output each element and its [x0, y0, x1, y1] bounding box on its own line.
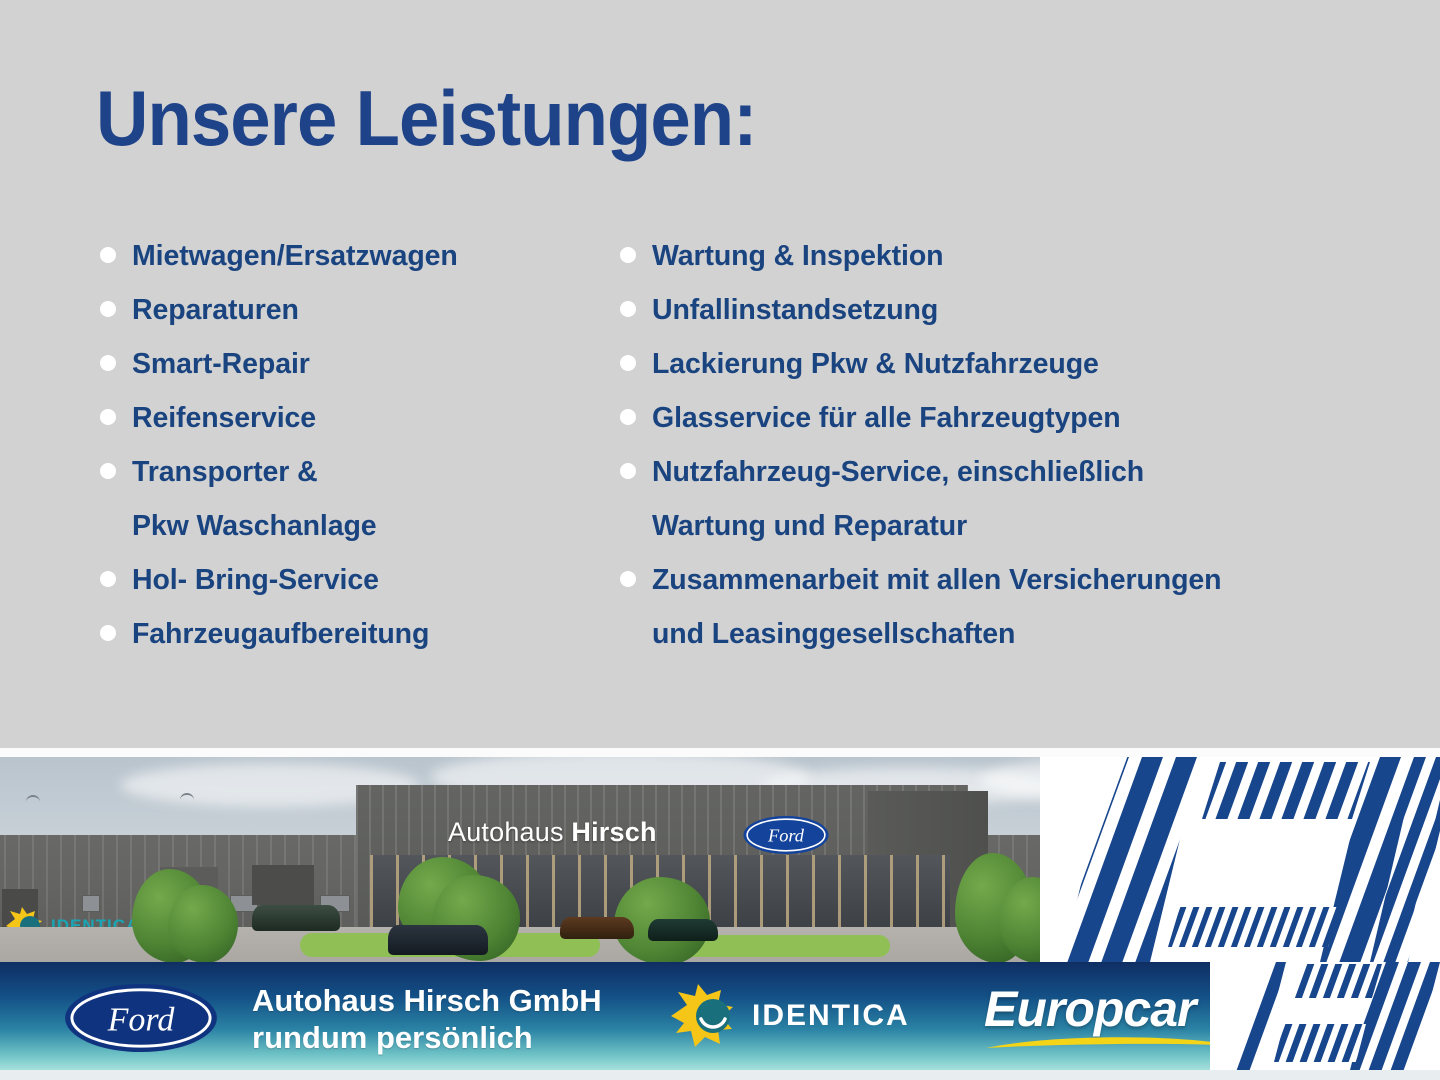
parked-car: [252, 905, 340, 931]
company-name-line1: Autohaus Hirsch GmbH: [252, 982, 602, 1019]
identica-wordmark-footer: IDENTICA: [752, 999, 910, 1033]
building-sign: Autohaus Hirsch: [448, 817, 657, 848]
roller-door: [252, 865, 314, 905]
bullet-icon: [100, 355, 116, 371]
bullet-icon: [100, 247, 116, 263]
parked-car: [388, 925, 488, 955]
bullet-icon: [100, 625, 116, 641]
list-item: Fahrzeugaufbereitung: [100, 612, 620, 666]
bottom-edge-strip: [0, 1070, 1440, 1080]
list-item-continuation: und Leasinggesellschaften: [620, 612, 1410, 666]
list-item: Wartung & Inspektion: [620, 234, 1410, 288]
list-item-label: Mietwagen/Ersatzwagen: [132, 234, 458, 278]
list-item: Glasservice für alle Fahrzeugtypen: [620, 396, 1410, 450]
svg-text:Ford: Ford: [767, 826, 805, 846]
list-item: Unfallinstandsetzung: [620, 288, 1410, 342]
bullet-icon: [620, 463, 636, 479]
list-item-label: Zusammenarbeit mit allen Versicherungen: [652, 558, 1221, 602]
bird-icon: [26, 795, 40, 802]
footer-stripe-decoration: [1210, 962, 1440, 1070]
bullet-icon: [620, 571, 636, 587]
building-sign-name: Hirsch: [571, 817, 656, 847]
svg-text:Ford: Ford: [107, 1002, 176, 1039]
bullet-spacer: [620, 517, 636, 533]
bullet-icon: [100, 463, 116, 479]
list-item-label: Lackierung Pkw & Nutzfahrzeuge: [652, 342, 1099, 386]
bullet-icon: [100, 571, 116, 587]
list-item: Mietwagen/Ersatzwagen: [100, 234, 620, 288]
bird-icon: [180, 793, 194, 800]
divider-above-photo: [0, 748, 1440, 757]
services-column-left: Mietwagen/Ersatzwagen Reparaturen Smart-…: [100, 234, 620, 666]
list-item-label: Unfallinstandsetzung: [652, 288, 938, 332]
list-item-label: Pkw Waschanlage: [132, 504, 377, 548]
parked-car: [560, 917, 634, 939]
building-sign-prefix: Autohaus: [448, 817, 564, 847]
parked-car: [648, 919, 718, 941]
list-item-label: Nutzfahrzeug-Service, einschließlich: [652, 450, 1144, 494]
list-item: Transporter &: [100, 450, 620, 504]
list-item: Nutzfahrzeug-Service, einschließlich: [620, 450, 1410, 504]
page-title: Unsere Leistungen:: [96, 78, 756, 160]
bullet-icon: [620, 247, 636, 263]
list-item-continuation: Pkw Waschanlage: [100, 504, 620, 558]
slide-canvas: Unsere Leistungen: Mietwagen/Ersatzwagen…: [0, 0, 1440, 1080]
list-item-label: Reparaturen: [132, 288, 299, 332]
company-tagline: rundum persönlich: [252, 1019, 602, 1056]
bullet-icon: [100, 409, 116, 425]
list-item-label: Glasservice für alle Fahrzeugtypen: [652, 396, 1121, 440]
list-item: Reifenservice: [100, 396, 620, 450]
bullet-icon: [100, 301, 116, 317]
list-item-label: Smart-Repair: [132, 342, 310, 386]
list-item-label: Fahrzeugaufbereitung: [132, 612, 429, 656]
bullet-icon: [620, 355, 636, 371]
list-item-continuation: Wartung und Reparatur: [620, 504, 1410, 558]
list-item: Lackierung Pkw & Nutzfahrzeuge: [620, 342, 1410, 396]
list-item: Hol- Bring-Service: [100, 558, 620, 612]
identica-sun-icon: [668, 984, 740, 1048]
bullet-icon: [620, 409, 636, 425]
footer-bar: Ford Autohaus Hirsch GmbH rundum persönl…: [0, 962, 1440, 1070]
bullet-icon: [620, 301, 636, 317]
europcar-wordmark: Europcar: [984, 980, 1196, 1038]
bullet-spacer: [100, 517, 116, 533]
stripe-decoration-panel: [1040, 757, 1440, 962]
ford-logo-icon: Ford: [742, 814, 830, 856]
bullet-spacer: [620, 625, 636, 641]
list-item-label: und Leasinggesellschaften: [652, 612, 1015, 656]
list-item-label: Wartung & Inspektion: [652, 234, 943, 278]
list-item-label: Transporter &: [132, 450, 318, 494]
list-item-label: Reifenservice: [132, 396, 316, 440]
list-item: Smart-Repair: [100, 342, 620, 396]
list-item-label: Hol- Bring-Service: [132, 558, 379, 602]
identica-logo-footer: IDENTICA: [668, 984, 910, 1048]
list-item-label: Wartung und Reparatur: [652, 504, 967, 548]
services-column-right: Wartung & Inspektion Unfallinstandsetzun…: [620, 234, 1410, 666]
list-item: Zusammenarbeit mit allen Versicherungen: [620, 558, 1410, 612]
list-item: Reparaturen: [100, 288, 620, 342]
ford-logo-icon: Ford: [62, 982, 220, 1054]
tree: [168, 885, 238, 962]
company-name-block: Autohaus Hirsch GmbH rundum persönlich: [252, 982, 602, 1056]
